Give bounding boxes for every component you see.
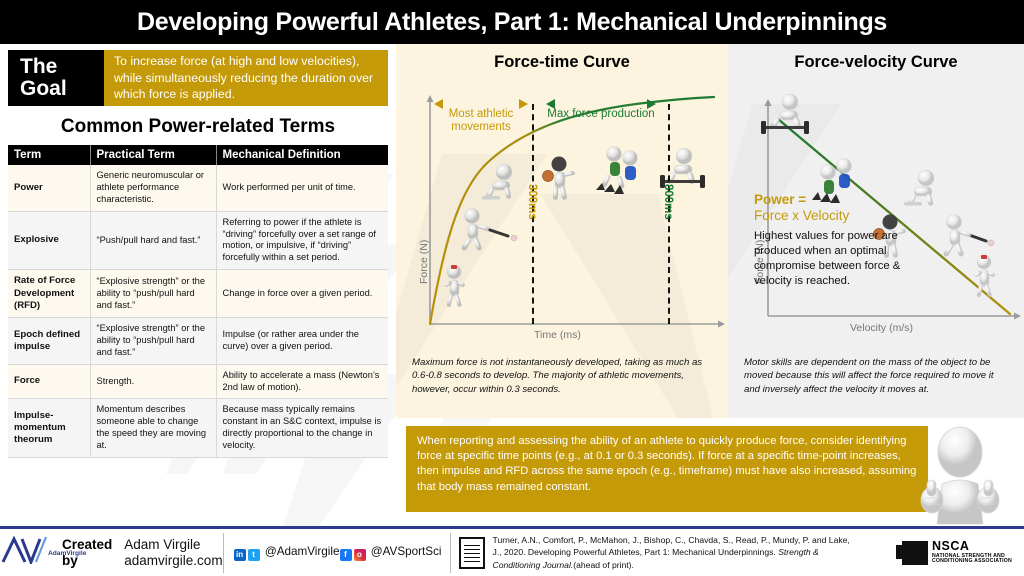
goal-text: To increase force (at high and low veloc… [104,50,388,106]
cell-term: Impulse-momentum theorum [8,399,90,458]
force-velocity-caption: Motor skills are dependent on the mass o… [728,349,1024,396]
double-arrow-icon [434,97,528,105]
nsca-mark-icon [902,541,928,565]
social-handle-adamvirgile[interactable]: @AdamVirgile [265,545,340,558]
social-handle-avsportsci[interactable]: @AVSportSci [371,545,442,558]
cell-term: Explosive [8,211,90,270]
force-velocity-title: Force-velocity Curve [728,44,1024,72]
twitter-icon[interactable]: t [248,549,260,561]
page-title: Developing Powerful Athletes, Part 1: Me… [137,8,887,37]
band-most-athletic-movements: Most athletic movements [434,97,528,134]
athlete-figure-batter [461,209,517,252]
cell-practical: Generic neuromuscular or athlete perform… [90,165,216,211]
goal-box: The Goal To increase force (at high and … [8,50,388,106]
marker-label-300ms: 300ms [526,184,538,220]
title-bar: Developing Powerful Athletes, Part 1: Me… [0,0,1024,44]
athlete-figure-batter [943,215,994,258]
terms-section-title: Common Power-related Terms [0,116,396,138]
nsca-abbrev: NSCA [932,540,1012,553]
cell-mechanical: Referring to power if the athlete is “dr… [216,211,388,270]
footer-divider [223,533,224,573]
force-time-caption: Maximum force is not instantaneously dev… [396,349,728,396]
band-label-left: Most athletic movements [434,108,528,134]
social-handles: int @AdamVirgile fo @AVSportSci [234,529,442,576]
force-velocity-plot: Power = Force x Velocity Highest values … [728,44,1024,344]
left-column: The Goal To increase force (at high and … [0,44,396,526]
column-header-term: Term [8,145,90,165]
table-row: Explosive “Push/pull hard and fast.” Ref… [8,211,388,270]
right-column: Force-time Curve [396,44,1024,526]
author-name: Adam Virgile [124,537,222,553]
cell-mechanical: Because mass typically remains constant … [216,399,388,458]
power-terms-table: Term Practical Term Mechanical Definitio… [8,145,388,458]
social-row-1: int @AdamVirgile [234,544,340,561]
nsca-line2: CONDITIONING ASSOCIATION [932,559,1012,564]
athlete-figure-weightlifter [660,148,705,188]
citation-suffix: (ahead of print). [573,560,634,570]
force-time-panel: Force-time Curve [396,44,728,418]
author-website[interactable]: adamvirgile.com [124,553,222,569]
cell-term: Power [8,165,90,211]
body-region: The Goal To increase force (at high and … [0,44,1024,526]
cell-term: Rate of Force Development (RFD) [8,270,90,318]
double-arrow-icon [546,97,656,105]
created-by-line2: by [62,553,112,568]
goal-label: The Goal [8,50,104,106]
column-header-practical: Practical Term [90,145,216,165]
mannequin-thumbs-up-icon [908,422,1012,526]
created-by-line1: Created [62,537,112,552]
table-row: Force Strength. Ability to accelerate a … [8,364,388,399]
cell-practical: Strength. [90,364,216,399]
table-row: Epoch defined impulse “Explosive strengt… [8,318,388,365]
force-time-plot: 300ms 800ms Most athletic movements [396,44,728,344]
linkedin-icon[interactable]: in [234,549,246,561]
cell-practical: “Push/pull hard and fast.” [90,211,216,270]
force-time-svg [396,44,728,344]
key-takeaway-callout: When reporting and assessing the ability… [406,426,928,512]
facebook-icon[interactable]: f [340,549,352,561]
document-icon [459,537,485,569]
cell-practical: Momentum describes someone able to chang… [90,399,216,458]
infographic-page: Developing Powerful Athletes, Part 1: Me… [0,0,1024,576]
av-monogram-icon [0,536,48,569]
goal-label-line1: The [20,56,104,78]
power-description: Highest values for power are produced wh… [754,229,936,289]
column-header-mechanical: Mechanical Definition [216,145,388,165]
cell-practical: “Explosive strength” or the ability to “… [90,270,216,318]
footer-divider-2 [450,533,451,573]
table-row: Power Generic neuromuscular or athlete p… [8,165,388,211]
citation-block: Turner, A.N., Comfort, P., McMahon, J., … [493,534,853,570]
cell-mechanical: Impulse (or rather area under the curve)… [216,318,388,365]
cell-term: Epoch defined impulse [8,318,90,365]
athlete-figure-crawl [482,164,512,200]
cell-mechanical: Ability to accelerate a mass (Newton’s 2… [216,364,388,399]
created-by-label: Created by [62,537,112,567]
nsca-logo: NSCA NATIONAL STRENGTH AND CONDITIONING … [902,540,1012,564]
cell-term: Force [8,364,90,399]
power-equation-value: Force x Velocity [754,208,936,225]
band-max-force-production: Max force production [546,97,656,121]
table-row: Impulse-momentum theorum Momentum descri… [8,399,388,458]
athlete-figure-basketball [543,157,576,201]
cell-mechanical: Change in force over a given period. [216,270,388,318]
cell-practical: “Explosive strength” or the ability to “… [90,318,216,365]
table-header-row: Term Practical Term Mechanical Definitio… [8,145,388,165]
goal-label-line2: Goal [20,78,104,100]
instagram-icon[interactable]: o [354,549,366,561]
power-equation-label: Power = [754,192,936,208]
power-definition-block: Power = Force x Velocity Highest values … [754,192,936,289]
force-time-title: Force-time Curve [396,44,728,72]
athlete-figure-sprinter [974,255,996,297]
callout-row: When reporting and assessing the ability… [396,418,1024,526]
marker-label-800ms: 800ms [662,184,674,220]
charts-row: Force-time Curve [396,44,1024,418]
athlete-figure-jumper [596,147,638,195]
created-by-block: Created by Adam Virgile adamvirgile.com [60,529,223,576]
av-logo: AdamVirgile [0,529,60,576]
cell-mechanical: Work performed per unit of time. [216,165,388,211]
table-row: Rate of Force Development (RFD) “Explosi… [8,270,388,318]
nsca-text: NSCA NATIONAL STRENGTH AND CONDITIONING … [932,540,1012,564]
av-logo-icon [0,536,48,564]
force-velocity-panel: Force-velocity Curve [728,44,1024,418]
footer: AdamVirgile Created by Adam Virgile adam… [0,526,1024,576]
author-block: Adam Virgile adamvirgile.com [124,537,222,568]
athlete-figure-sprinter [444,265,466,307]
social-row-2: fo @AVSportSci [340,544,442,561]
